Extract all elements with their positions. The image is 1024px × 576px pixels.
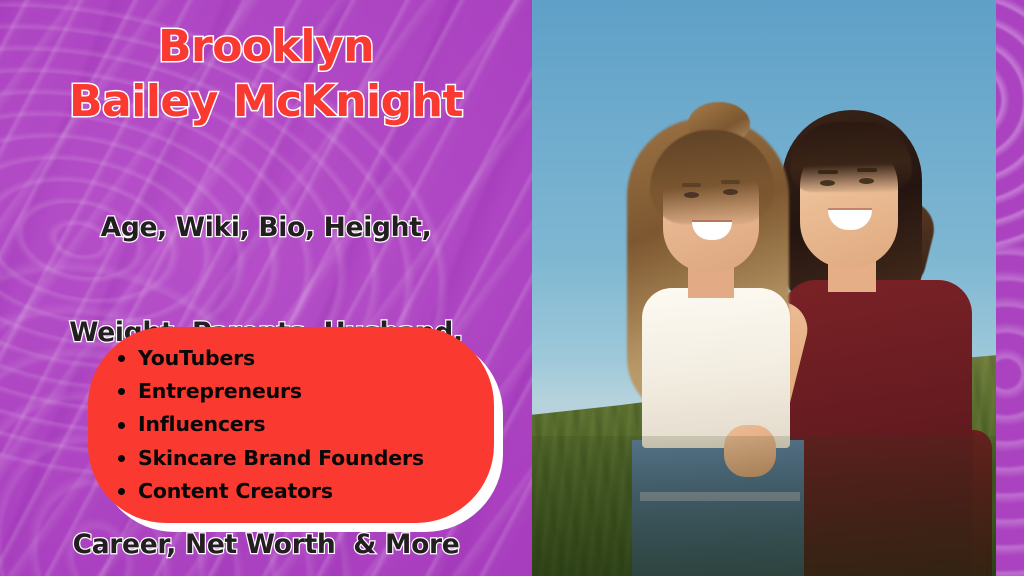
right-person-eyebrow-left <box>818 170 838 174</box>
right-strip-swirl-bottom <box>996 230 1024 576</box>
left-person-eye-right <box>723 189 738 195</box>
right-strip-swirl-top <box>996 0 1024 260</box>
left-person-white-top <box>642 288 790 448</box>
highlights-card: YouTubers Entrepreneurs Influencers Skin… <box>88 327 494 523</box>
bullet-dot-icon <box>118 455 125 462</box>
photo <box>532 0 998 576</box>
list-item: Skincare Brand Founders <box>118 442 470 475</box>
right-person-eye-right <box>859 178 874 184</box>
bullet-dot-icon <box>118 355 125 362</box>
photo-foreground-shadow <box>532 436 998 576</box>
subtitle-line-1: Age, Wiki, Bio, Height, <box>69 210 462 245</box>
left-person-eye-left <box>684 192 699 198</box>
highlights-list: YouTubers Entrepreneurs Influencers Skin… <box>118 342 470 508</box>
right-edge-strip <box>996 0 1024 576</box>
list-item-label: Content Creators <box>138 475 333 508</box>
bullet-dot-icon <box>118 388 125 395</box>
list-item-label: Influencers <box>138 408 265 441</box>
right-person-eyebrow-right <box>857 168 877 172</box>
list-item-label: YouTubers <box>138 342 255 375</box>
left-person-eyebrow-right <box>721 180 740 184</box>
list-item-label: Entrepreneurs <box>138 375 302 408</box>
highlights-card-wrapper: YouTubers Entrepreneurs Influencers Skin… <box>88 327 494 523</box>
list-item: YouTubers <box>118 342 470 375</box>
left-person-eyebrow-left <box>682 183 701 187</box>
right-person-eye-left <box>820 180 835 186</box>
thumbnail-canvas: Brooklyn Bailey McKnight Age, Wiki, Bio,… <box>0 0 1024 576</box>
list-item-label: Skincare Brand Founders <box>138 442 424 475</box>
list-item: Content Creators <box>118 475 470 508</box>
title-line-1: Brooklyn <box>69 20 463 75</box>
list-item: Entrepreneurs <box>118 375 470 408</box>
title-line-2: Bailey McKnight <box>69 75 463 130</box>
page-title: Brooklyn Bailey McKnight <box>69 20 463 129</box>
bullet-dot-icon <box>118 488 125 495</box>
right-person-hair-front <box>790 122 912 192</box>
bullet-dot-icon <box>118 422 125 429</box>
list-item: Influencers <box>118 408 470 441</box>
